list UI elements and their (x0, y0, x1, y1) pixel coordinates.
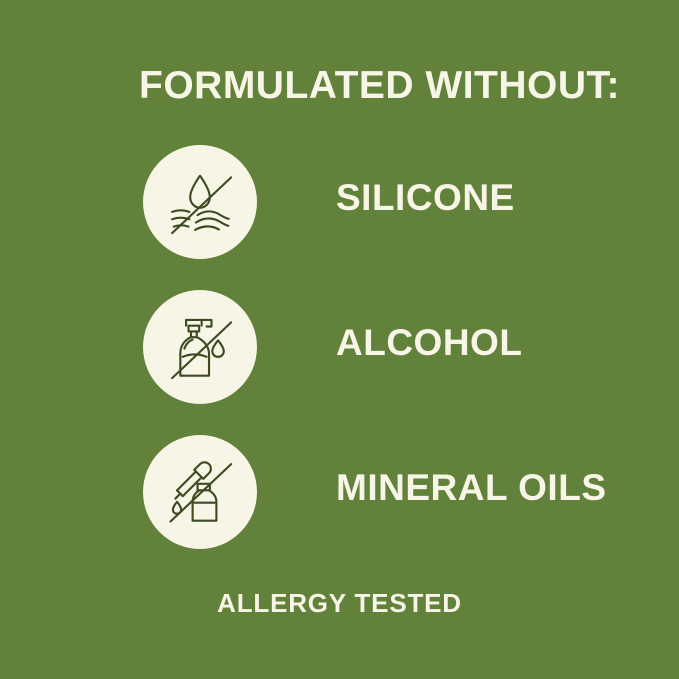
list-item: ALCOHOL (0, 288, 679, 433)
claims-list: SILICONE (0, 143, 679, 578)
formulated-without-poster: FORMULATED WITHOUT: (0, 0, 679, 679)
list-item: MINERAL OILS (0, 433, 679, 578)
allergy-tested-note: ALLERGY TESTED (0, 590, 679, 616)
list-item-label: ALCOHOL (336, 324, 522, 361)
list-item-label: MINERAL OILS (336, 469, 607, 506)
no-alcohol-pump-bottle-icon (159, 306, 241, 388)
page-title: FORMULATED WITHOUT: (139, 66, 620, 105)
list-item: SILICONE (0, 143, 679, 288)
no-silicone-droplet-waves-icon (159, 161, 241, 243)
badge-alcohol (143, 290, 257, 404)
badge-mineral-oils (143, 435, 257, 549)
badge-silicone (143, 145, 257, 259)
no-mineral-oils-dropper-bottle-icon (159, 451, 241, 533)
list-item-label: SILICONE (336, 179, 515, 216)
